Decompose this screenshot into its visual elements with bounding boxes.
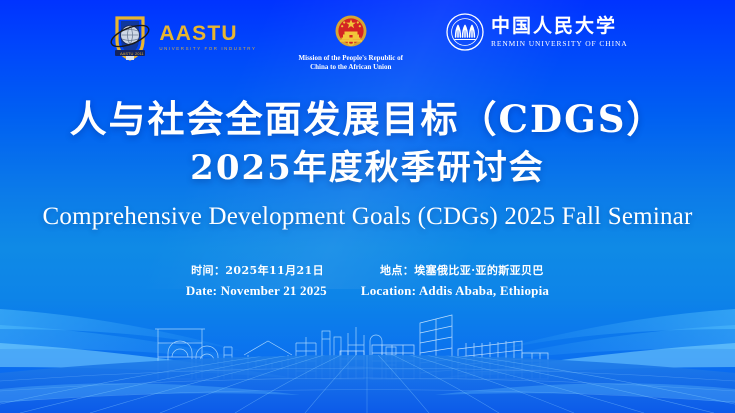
event-time-cn: 时间：2025年11月21日 <box>191 262 324 278</box>
logo-renmin-university: 中国人民大学 RENMIN UNIVERSITY OF CHINA <box>445 12 628 52</box>
city-skyline-line-art <box>0 303 735 413</box>
china-mission-line2: China to the African Union <box>299 63 403 72</box>
event-location-en: Location: Addis Ababa, Ethiopia <box>361 283 549 299</box>
renmin-name-cn: 中国人民大学 <box>491 17 628 36</box>
event-info-row-en: Date: November 21 2025 Location: Addis A… <box>0 283 735 299</box>
event-info-block: 时间：2025年11月21日 地点：埃塞俄比亚·亚的斯亚贝巴 Date: Nov… <box>0 262 735 299</box>
renmin-name-en: RENMIN UNIVERSITY OF CHINA <box>491 40 628 48</box>
event-location-cn: 地点：埃塞俄比亚·亚的斯亚贝巴 <box>380 262 544 278</box>
logo-aastu: AASTU 2011 AASTU UNIVERSITY FOR INDUSTRY <box>107 12 256 62</box>
seminar-poster: AASTU 2011 AASTU UNIVERSITY FOR INDUSTRY <box>0 0 735 413</box>
svg-text:AASTU: AASTU <box>120 51 133 56</box>
page-title-cn-line2: 2025年度秋季研讨会 <box>0 146 735 190</box>
aastu-shield-globe-icon: AASTU 2011 <box>107 12 153 62</box>
china-national-emblem-icon <box>331 12 371 52</box>
china-mission-line1: Mission of the People's Republic of <box>299 54 403 63</box>
page-title-cn-line1: 人与社会全面发展目标（CDGS） <box>0 96 735 142</box>
svg-text:2011: 2011 <box>135 51 144 56</box>
title-block: 人与社会全面发展目标（CDGS） 2025年度秋季研讨会 Comprehensi… <box>0 96 735 234</box>
event-info-row-cn: 时间：2025年11月21日 地点：埃塞俄比亚·亚的斯亚贝巴 <box>0 262 735 278</box>
aastu-wordmark: AASTU UNIVERSITY FOR INDUSTRY <box>159 23 256 51</box>
renmin-university-seal-icon <box>445 12 485 52</box>
aastu-name: AASTU <box>159 23 256 44</box>
renmin-wordmark: 中国人民大学 RENMIN UNIVERSITY OF CHINA <box>491 17 628 48</box>
aastu-tagline: UNIVERSITY FOR INDUSTRY <box>159 47 256 51</box>
page-title-en: Comprehensive Development Goals (CDGs) 2… <box>0 201 735 234</box>
china-mission-label: Mission of the People's Republic of Chin… <box>299 54 403 73</box>
logo-header: AASTU 2011 AASTU UNIVERSITY FOR INDUSTRY <box>0 12 735 74</box>
logo-china-mission: Mission of the People's Republic of Chin… <box>299 12 403 73</box>
event-time-en: Date: November 21 2025 <box>186 283 327 299</box>
